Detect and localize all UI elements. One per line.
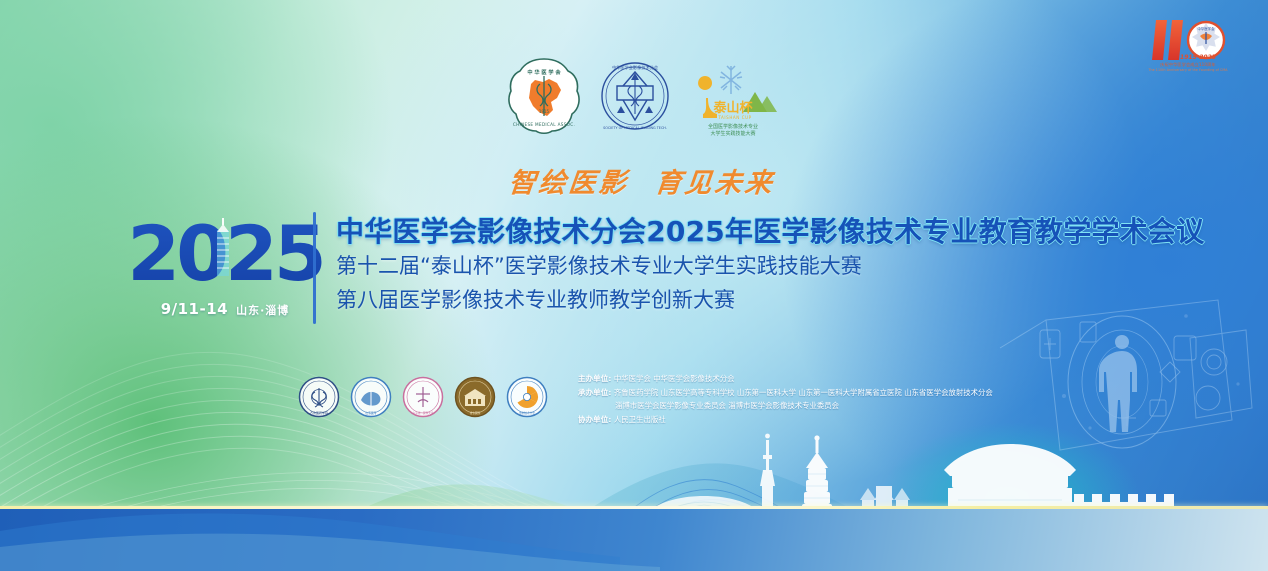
organizer-line: 承办单位: 齐鲁医药学院 山东医学高等专科学校 山东第一医科大学 山东第一医科大… xyxy=(578,386,1008,400)
year-2025-graphic: 2025 xyxy=(150,208,300,296)
organizer-line: 主办单位: 中华医学会 中华医学会影像技术分会 xyxy=(578,372,1008,386)
slogan-part-1: 智绘医影 xyxy=(507,161,631,200)
title-group: 中华医学会影像技术分会2025年医学影像技术专业教育教学学术会议 第十二届“泰山… xyxy=(336,214,1176,317)
organizer-line: 淄博市医学会医学影像专业委员会 淄博市医学会影像技术专业委员会 xyxy=(578,399,1008,413)
seal-shandong-provincial-hospital: 省立医院 xyxy=(454,376,496,418)
organizer-label: 主办单位: xyxy=(578,374,612,383)
svg-text:中华医学会影像技术分会: 中华医学会影像技术分会 xyxy=(612,64,659,71)
svg-text:全国医学影像技术专业: 全国医学影像技术专业 xyxy=(708,123,758,130)
svg-text:中华医学会: 中华医学会 xyxy=(1198,26,1216,31)
conference-banner: 中 华 医 学 会 1915 CHINESE MEDICAL ASSOC. xyxy=(0,0,1268,571)
anniversary-caption: 庆祝中华医学会成立110周年 The 110th Anniversary of … xyxy=(1126,62,1250,73)
competition-title-1: 第十二届“泰山杯”医学影像技术专业大学生实践技能大赛 xyxy=(336,249,1176,283)
event-slogan: 智绘医影 育见未来 xyxy=(490,158,795,202)
event-city: 山东·淄博 xyxy=(236,302,289,318)
organizer-line: 协办单位: 人民卫生出版社 xyxy=(578,413,1008,427)
svg-text:1915: 1915 xyxy=(539,109,550,114)
svg-text:山东医专: 山东医专 xyxy=(365,411,376,415)
organizer-value: 齐鲁医药学院 山东医学高等专科学校 山东第一医科大学 山东第一医科大学附属省立医… xyxy=(614,388,993,397)
water-waves xyxy=(0,501,1268,571)
anniversary-caption-en: The 110th Anniversary of the Founding of… xyxy=(1126,68,1250,73)
svg-text:中 华 医 学 会: 中 华 医 学 会 xyxy=(527,68,561,76)
organizer-value: 淄博市医学会医学影像专业委员会 淄博市医学会影像技术专业委员会 xyxy=(615,401,839,410)
title-divider xyxy=(313,212,316,324)
event-date: 9/11-14 xyxy=(161,300,228,318)
anniversary-years: 1915-2025 xyxy=(1180,54,1216,61)
svg-text:齐鲁医药学院: 齐鲁医药学院 xyxy=(310,410,328,415)
competition-title-2: 第八届医学影像技术专业教师教学创新大赛 xyxy=(336,283,1176,317)
seal-shandong-first-medical-university: 山东第一医科大学 xyxy=(402,376,444,418)
svg-text:省立医院: 省立医院 xyxy=(470,411,481,415)
svg-text:泰山杯: 泰山杯 xyxy=(712,100,753,116)
year-block: 2025 9/11-14 山东·淄博 xyxy=(150,208,300,330)
svg-text:SOCIETY OF MEDICAL IMAGING TEC: SOCIETY OF MEDICAL IMAGING TECH. xyxy=(603,126,667,130)
top-logos: 中 华 医 学 会 1915 CHINESE MEDICAL ASSOC. xyxy=(505,48,775,144)
seal-qilu-medical-university: 齐鲁医药学院 xyxy=(298,376,340,418)
organizer-label: 协办单位: xyxy=(578,415,612,424)
anniversary-badge: 中华医学会 1915-2025 庆祝中华医学会成立110周年 The 110th… xyxy=(1126,14,1250,80)
taishan-cup-logo: 泰山杯 TAISHAN CUP 全国医学影像技术专业 大学生实践技能大赛 xyxy=(687,54,779,138)
chinese-medical-association-logo: 中 华 医 学 会 1915 CHINESE MEDICAL ASSOC. xyxy=(505,54,583,138)
svg-text:CHINESE MEDICAL ASSOC.: CHINESE MEDICAL ASSOC. xyxy=(513,122,575,127)
organizer-value: 中华医学会 中华医学会影像技术分会 xyxy=(614,374,735,383)
svg-text:放射技术分会: 放射技术分会 xyxy=(519,411,535,415)
seal-radiology-technology-society: 放射技术分会 xyxy=(506,376,548,418)
organizer-value: 人民卫生出版社 xyxy=(614,415,666,424)
event-date-row: 9/11-14 山东·淄博 xyxy=(150,300,300,318)
slogan-part-2: 育见未来 xyxy=(653,161,777,200)
svg-text:山东第一医科大学: 山东第一医科大学 xyxy=(413,411,434,415)
svg-text:大学生实践技能大赛: 大学生实践技能大赛 xyxy=(710,130,755,137)
organizer-block: 主办单位: 中华医学会 中华医学会影像技术分会 承办单位: 齐鲁医药学院 山东医… xyxy=(578,372,1008,427)
imaging-technology-branch-logo: 中华医学会影像技术分会 SOCIETY OF MEDICAL IMAGING T… xyxy=(597,56,673,136)
svg-text:TAISHAN CUP: TAISHAN CUP xyxy=(717,115,751,120)
organizer-label: 承办单位: xyxy=(578,388,612,397)
institution-seals: 齐鲁医药学院 山东医专 山东第一医科大学 xyxy=(298,370,548,424)
conference-title: 中华医学会影像技术分会2025年医学影像技术专业教育教学学术会议 xyxy=(336,214,1176,249)
seal-shandong-medical-college: 山东医专 xyxy=(350,376,392,418)
